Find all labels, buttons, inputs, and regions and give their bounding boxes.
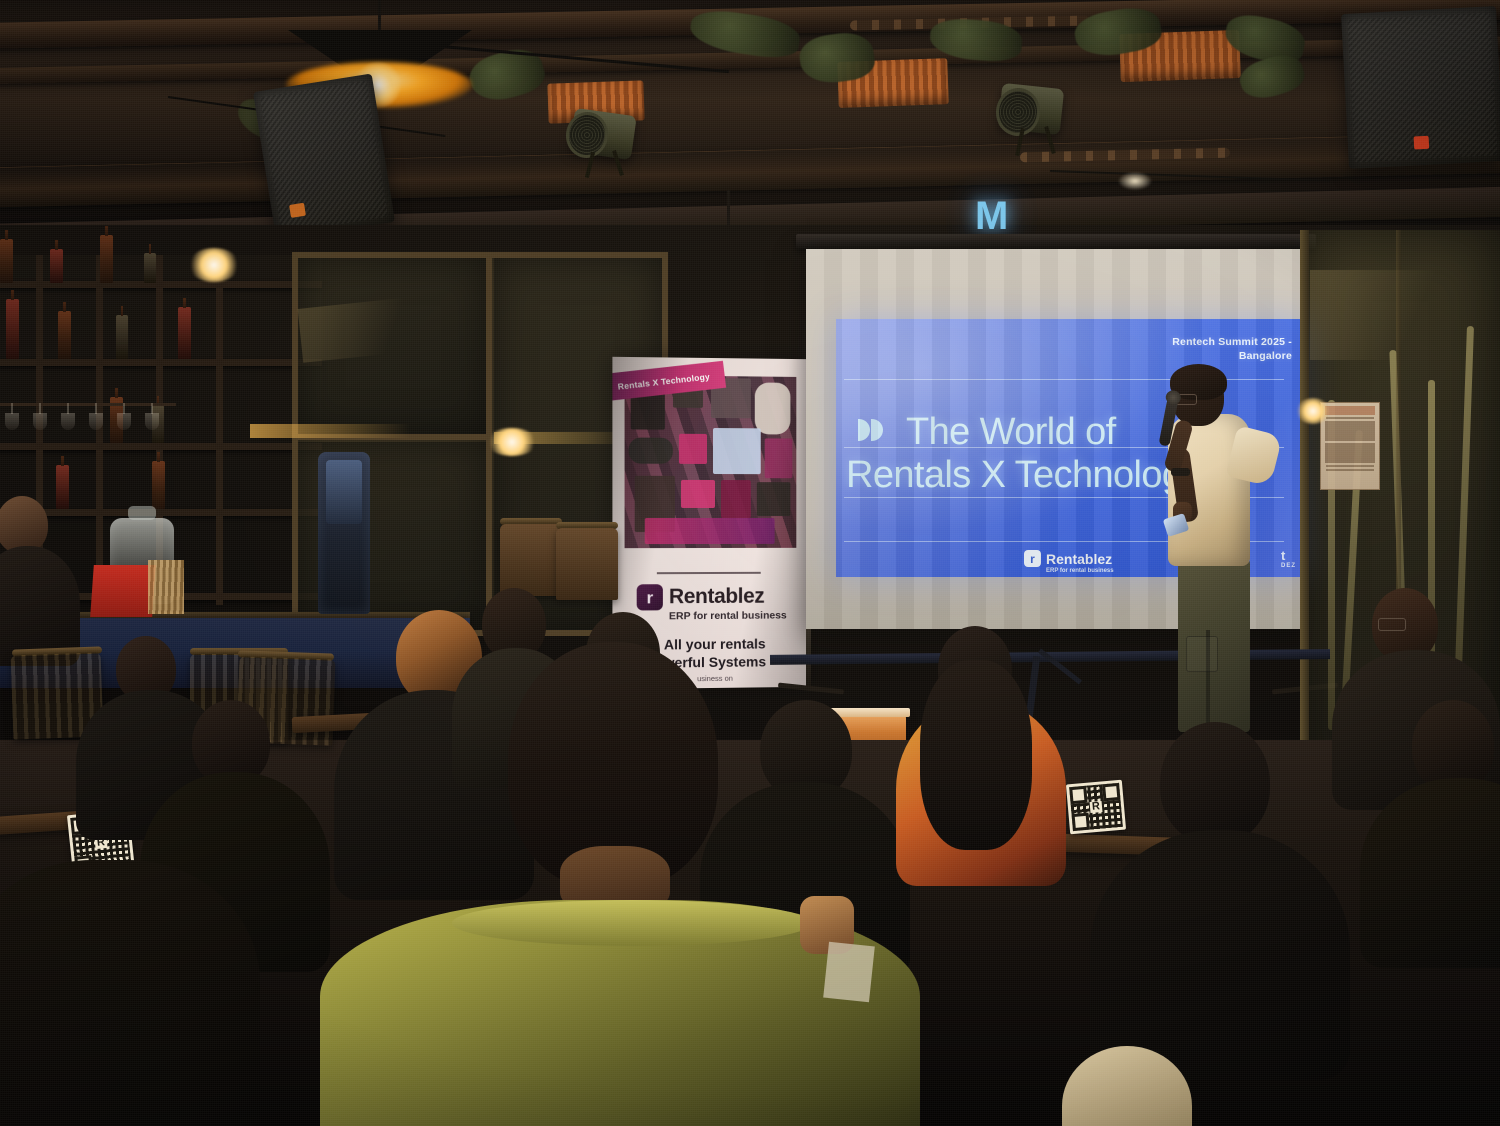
banner-brand-tagline: ERP for rental business <box>669 610 787 623</box>
slide-footer-right-logo: t DEZ <box>1281 548 1296 569</box>
pa-speaker-right <box>1341 6 1500 169</box>
banner-ribbon-text: Rentals X Technology <box>617 371 710 391</box>
wall-light-2 <box>486 428 538 456</box>
red-napkin-holder <box>90 565 156 617</box>
slide-event-line1: Rentech Summit 2025 - <box>1172 336 1292 348</box>
slide-footer-right-sub: DEZ <box>1281 563 1296 569</box>
qr-center-letter: R <box>1090 801 1103 813</box>
slide-title-line1: The World of <box>906 411 1116 453</box>
chair <box>500 524 562 596</box>
projector-beam-glyph: M <box>975 196 1039 238</box>
slide-event-meta: Rentech Summit 2025 - Bangalore <box>1062 335 1292 363</box>
rentablez-wordmark: Rentablez <box>669 585 764 610</box>
screen-roller-bar <box>796 234 1316 249</box>
rentablez-footer-word: Rentablez <box>1046 552 1112 566</box>
wall-light <box>188 248 240 282</box>
slide-footer-tagline: ERP for rental business <box>1046 568 1114 574</box>
ceiling-rafters <box>0 0 1500 250</box>
pa-speaker <box>253 74 395 241</box>
banner-product-collage <box>625 375 797 548</box>
wristwatch <box>1171 468 1190 476</box>
puck-light <box>1118 172 1152 190</box>
slide-footer-right-mark: t <box>1281 548 1285 563</box>
slide-footer-logo: r Rentablez <box>1024 550 1112 567</box>
rentablez-logo-mark: r <box>637 584 663 610</box>
banner-divider <box>657 572 761 574</box>
qr-code-standee: R <box>1066 780 1126 835</box>
banner-headline-line1: All your rentals <box>664 636 766 653</box>
pendant-lamp-rod <box>378 0 381 34</box>
eyeglasses-icon <box>1378 618 1406 631</box>
chair <box>556 528 618 600</box>
photo-scene: Rentals X Technology r Rentablez ERP for… <box>0 0 1500 1126</box>
coffee-urn <box>318 452 370 614</box>
slide-event-line2: Bangalore <box>1239 350 1292 362</box>
wall-light-3 <box>1296 398 1330 424</box>
banner-logo: r Rentablez <box>637 582 787 613</box>
drink-straws <box>148 560 184 614</box>
rentablez-footer-mark: r <box>1024 550 1041 567</box>
